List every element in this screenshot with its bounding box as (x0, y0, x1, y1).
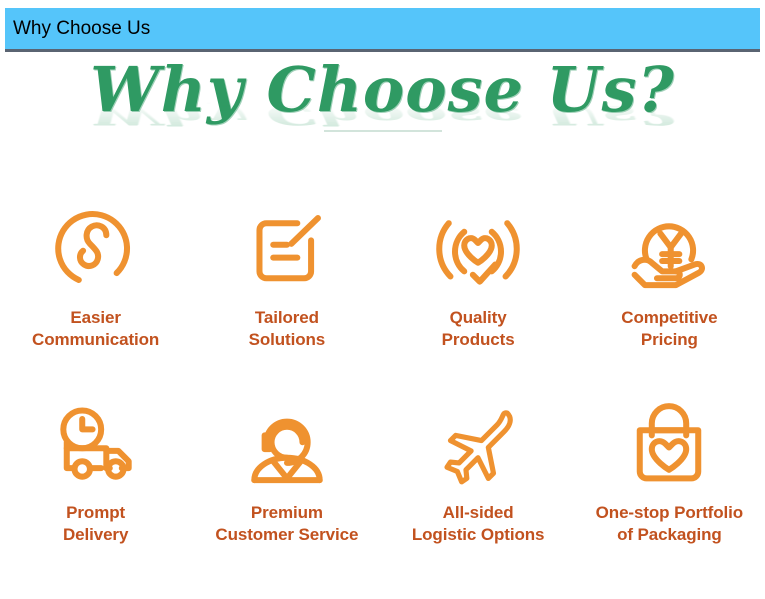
hero-title-wrap: Why Choose Us? Why Choose Us? (90, 57, 675, 122)
feature-item-premium-customer-service[interactable]: Premium Customer Service (191, 396, 382, 547)
delivery-truck-clock-icon (53, 396, 139, 492)
hero-divider (324, 130, 442, 132)
feature-label: One-stop Portfolio of Packaging (596, 502, 743, 547)
feature-item-all-sided-logistic-options[interactable]: All-sided Logistic Options (383, 396, 574, 547)
feature-item-one-stop-portfolio-of-packaging[interactable]: One-stop Portfolio of Packaging (574, 396, 765, 547)
feature-item-competitive-pricing[interactable]: Competitive Pricing (574, 201, 765, 352)
feature-item-easier-communication[interactable]: Easier Communication (0, 201, 191, 352)
feature-row-2: Prompt Delivery Premium Customer Service (0, 396, 765, 547)
hero-section: Why Choose Us? Why Choose Us? (0, 55, 765, 163)
document-pencil-icon (244, 201, 330, 297)
window-title: Why Choose Us (5, 19, 150, 38)
headset-agent-icon (244, 396, 330, 492)
page-content: Why Choose Us? Why Choose Us? Easier Com… (0, 55, 765, 599)
feature-item-quality-products[interactable]: Quality Products (383, 201, 574, 352)
feature-label: Premium Customer Service (215, 502, 358, 547)
feature-label: Competitive Pricing (621, 307, 717, 352)
heart-soundwave-check-icon (435, 201, 521, 297)
page-title: Why Choose Us? (90, 57, 675, 122)
feature-label: Easier Communication (32, 307, 159, 352)
feature-label: Tailored Solutions (249, 307, 326, 352)
feature-item-prompt-delivery[interactable]: Prompt Delivery (0, 396, 191, 547)
feature-label: All-sided Logistic Options (412, 502, 545, 547)
window-header: Why Choose Us (5, 8, 760, 52)
feature-label: Prompt Delivery (63, 502, 128, 547)
airplane-icon (435, 396, 521, 492)
feature-item-tailored-solutions[interactable]: Tailored Solutions (191, 201, 382, 352)
ear-listening-icon (53, 201, 139, 297)
feature-row-1: Easier Communication Tailored Solutions (0, 201, 765, 352)
hand-holding-yen-coin-icon (626, 201, 712, 297)
feature-label: Quality Products (442, 307, 515, 352)
shopping-bag-heart-icon (626, 396, 712, 492)
